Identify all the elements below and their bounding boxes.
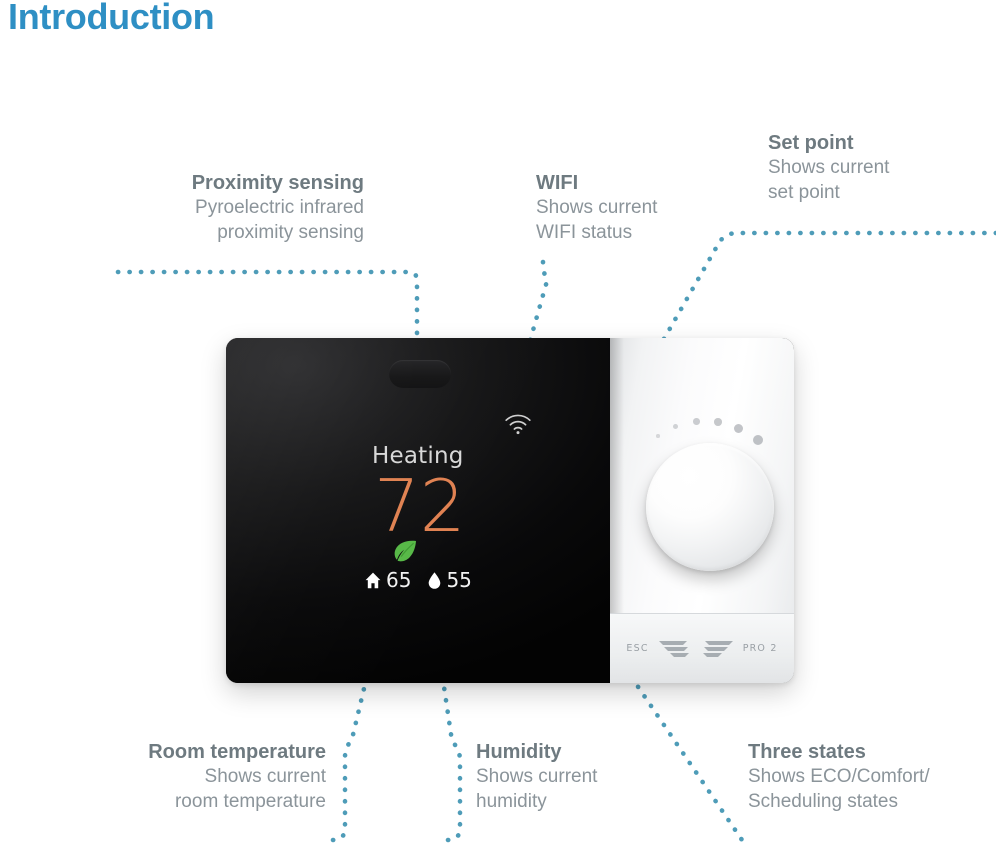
- dial-indicator-dot: [734, 424, 743, 433]
- rotary-knob[interactable]: [646, 443, 774, 571]
- dial-indicator-dot: [673, 424, 678, 429]
- callout-title: Humidity: [476, 739, 726, 765]
- callout-title: Proximity sensing: [4, 170, 364, 196]
- callout-three-states: Three states Shows ECO/Comfort/ Scheduli…: [748, 739, 996, 814]
- dial-indicator-dot: [753, 435, 763, 445]
- brand-strip: ESC PRO 2: [610, 613, 794, 683]
- screen-readouts: 65 55: [365, 568, 472, 592]
- callout-title: Set point: [768, 130, 996, 156]
- dial-indicator-dot: [693, 418, 700, 425]
- callout-room-temperature: Room temperature Shows current room temp…: [16, 739, 326, 814]
- setpoint-value: 72: [374, 470, 466, 542]
- callout-proximity-sensing: Proximity sensing Pyroelectric infrared …: [4, 170, 364, 245]
- thermostat-body: ESC PRO 2: [610, 338, 794, 683]
- wifi-icon: [503, 412, 533, 436]
- callout-set-point: Set point Shows current set point: [768, 130, 996, 205]
- thermostat-display[interactable]: Heating 72 65 55: [226, 338, 610, 683]
- callout-body: Shows ECO/Comfort/ Scheduling states: [748, 765, 996, 814]
- callout-body: Shows current set point: [768, 156, 996, 205]
- leaf-icon: [392, 539, 418, 563]
- readout-humidity: 55: [428, 568, 471, 592]
- callout-body: Pyroelectric infrared proximity sensing: [4, 196, 364, 245]
- dial-indicator-dot: [714, 418, 722, 426]
- callout-title: Room temperature: [16, 739, 326, 765]
- humidity-value: 55: [446, 568, 471, 592]
- brand-left-text: ESC: [626, 643, 648, 654]
- proximity-sensor: [389, 360, 451, 388]
- callout-title: WIFI: [536, 170, 746, 196]
- callout-title: Three states: [748, 739, 996, 765]
- water-drop-icon: [428, 572, 441, 589]
- callout-wifi: WIFI Shows current WIFI status: [536, 170, 746, 245]
- readout-room-temperature: 65: [365, 568, 411, 592]
- page-title: Introduction: [8, 0, 214, 38]
- callout-body: Shows current room temperature: [16, 765, 326, 814]
- wings-logo: [657, 636, 735, 662]
- callout-body: Shows current humidity: [476, 765, 726, 814]
- introduction-diagram: Introduction Proximity sensing Pyroelect…: [0, 0, 996, 854]
- callout-humidity: Humidity Shows current humidity: [476, 739, 726, 814]
- room-temperature-value: 65: [386, 568, 411, 592]
- thermostat-device: Heating 72 65 55: [226, 338, 794, 683]
- callout-body: Shows current WIFI status: [536, 196, 746, 245]
- dial-indicator-dot: [656, 434, 660, 438]
- brand-right-text: PRO 2: [743, 643, 778, 654]
- home-icon: [365, 572, 381, 589]
